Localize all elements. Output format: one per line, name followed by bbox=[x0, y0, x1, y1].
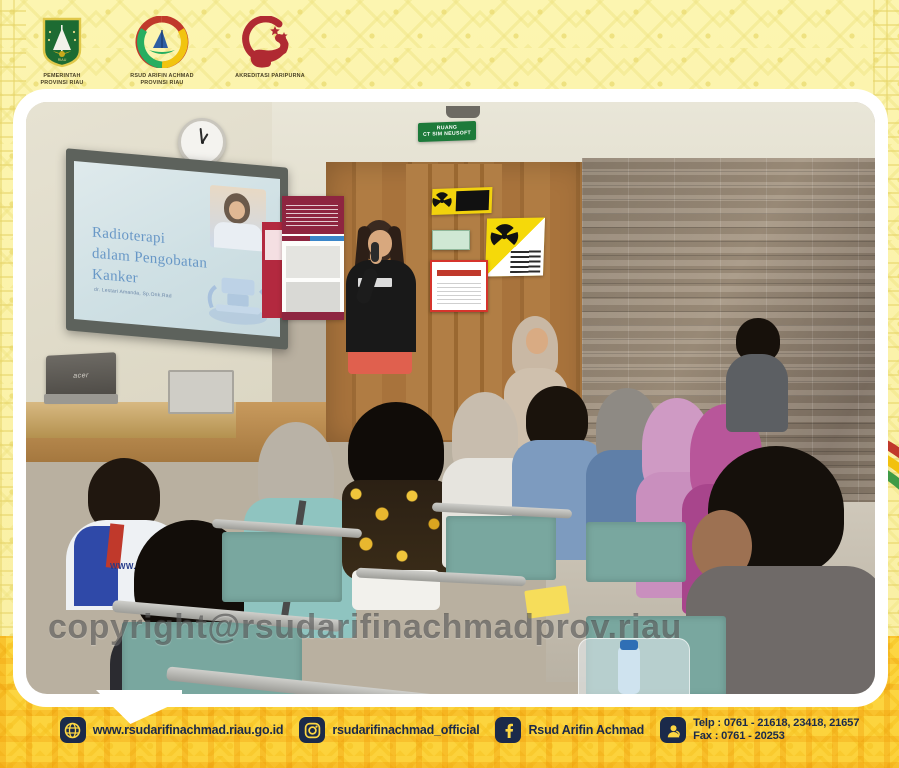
attendee-back-standing bbox=[726, 318, 786, 428]
logo-row: RIAU PEMERINTAHPROVINSI RIAU bbox=[24, 14, 316, 86]
footer-phone[interactable]: Telp : 0761 - 21618, 23418, 21657 Fax : … bbox=[660, 717, 859, 744]
footer-facebook[interactable]: Rsud Arifin Achmad bbox=[495, 717, 644, 743]
health-info-standee bbox=[282, 196, 344, 320]
logo-rsud-arifin-achmad: RSUD ARIFIN ACHMADPROVINSI RIAU bbox=[124, 14, 200, 86]
water-bottle bbox=[618, 646, 640, 694]
yellow-notepad bbox=[524, 585, 569, 619]
facebook-icon bbox=[495, 717, 521, 743]
svg-text:RIAU: RIAU bbox=[58, 58, 67, 62]
website-label: www.rsudarifinachmad.riau.go.id bbox=[93, 723, 284, 737]
chair-seat bbox=[446, 516, 556, 580]
photo-speech-bubble-frame: JALUR EVAKUASI RUANGCT SIM NEUSOFT bbox=[20, 96, 881, 700]
radiation-hazard-sign bbox=[485, 217, 545, 276]
radiation-trefoil-icon bbox=[432, 192, 452, 210]
event-photograph: JALUR EVAKUASI RUANGCT SIM NEUSOFT bbox=[26, 102, 875, 694]
projection-screen: Radioterapi dalam Pengobatan Kanker dr. … bbox=[74, 161, 280, 337]
rsud-arifin-achmad-logo-icon bbox=[135, 14, 189, 70]
logo-caption: AKREDITASI PARIPURNA bbox=[235, 73, 305, 80]
laptop-screen: acer bbox=[46, 352, 116, 400]
logo-caption: RSUD ARIFIN ACHMADPROVINSI RIAU bbox=[130, 73, 193, 86]
akreditasi-paripurna-logo-icon bbox=[239, 14, 301, 70]
logo-akreditasi-paripurna: AKREDITASI PARIPURNA bbox=[224, 14, 316, 80]
emergency-notice-red bbox=[430, 260, 488, 312]
ceiling-speaker-icon bbox=[446, 106, 480, 118]
bottle-cap bbox=[620, 640, 638, 650]
logo-caption: PEMERINTAHPROVINSI RIAU bbox=[40, 73, 83, 86]
footer-instagram[interactable]: rsudarifinachmad_official bbox=[299, 717, 479, 743]
poster-canvas: RIAU PEMERINTAHPROVINSI RIAU bbox=[0, 0, 899, 768]
footer-contact-bar: www.rsudarifinachmad.riau.go.id rsudarif… bbox=[0, 706, 899, 754]
chair-seat bbox=[222, 532, 342, 602]
laptop-brand-label: acer bbox=[73, 372, 89, 380]
phone-icon bbox=[660, 717, 686, 743]
footer-website[interactable]: www.rsudarifinachmad.riau.go.id bbox=[60, 717, 284, 743]
ct-sim-room-sign: RUANGCT SIM NEUSOFT bbox=[418, 121, 476, 142]
presenter-speaker bbox=[344, 220, 420, 380]
information-notice-green bbox=[432, 230, 470, 250]
logo-riau-government: RIAU PEMERINTAHPROVINSI RIAU bbox=[24, 14, 100, 86]
laptop-keyboard bbox=[44, 394, 118, 404]
slide-title: Radioterapi dalam Pengobatan Kanker bbox=[92, 223, 242, 299]
instagram-label: rsudarifinachmad_official bbox=[332, 723, 479, 737]
projection-screen-frame: Radioterapi dalam Pengobatan Kanker dr. … bbox=[66, 148, 288, 349]
phone-label: Telp : 0761 - 21618, 23418, 21657 Fax : … bbox=[693, 717, 859, 744]
instagram-icon bbox=[299, 717, 325, 743]
globe-icon bbox=[60, 717, 86, 743]
chair-seat bbox=[586, 522, 686, 582]
facebook-label: Rsud Arifin Achmad bbox=[528, 723, 644, 737]
riau-provincial-government-emblem-icon: RIAU bbox=[41, 14, 83, 70]
desk-monitor bbox=[168, 370, 234, 414]
